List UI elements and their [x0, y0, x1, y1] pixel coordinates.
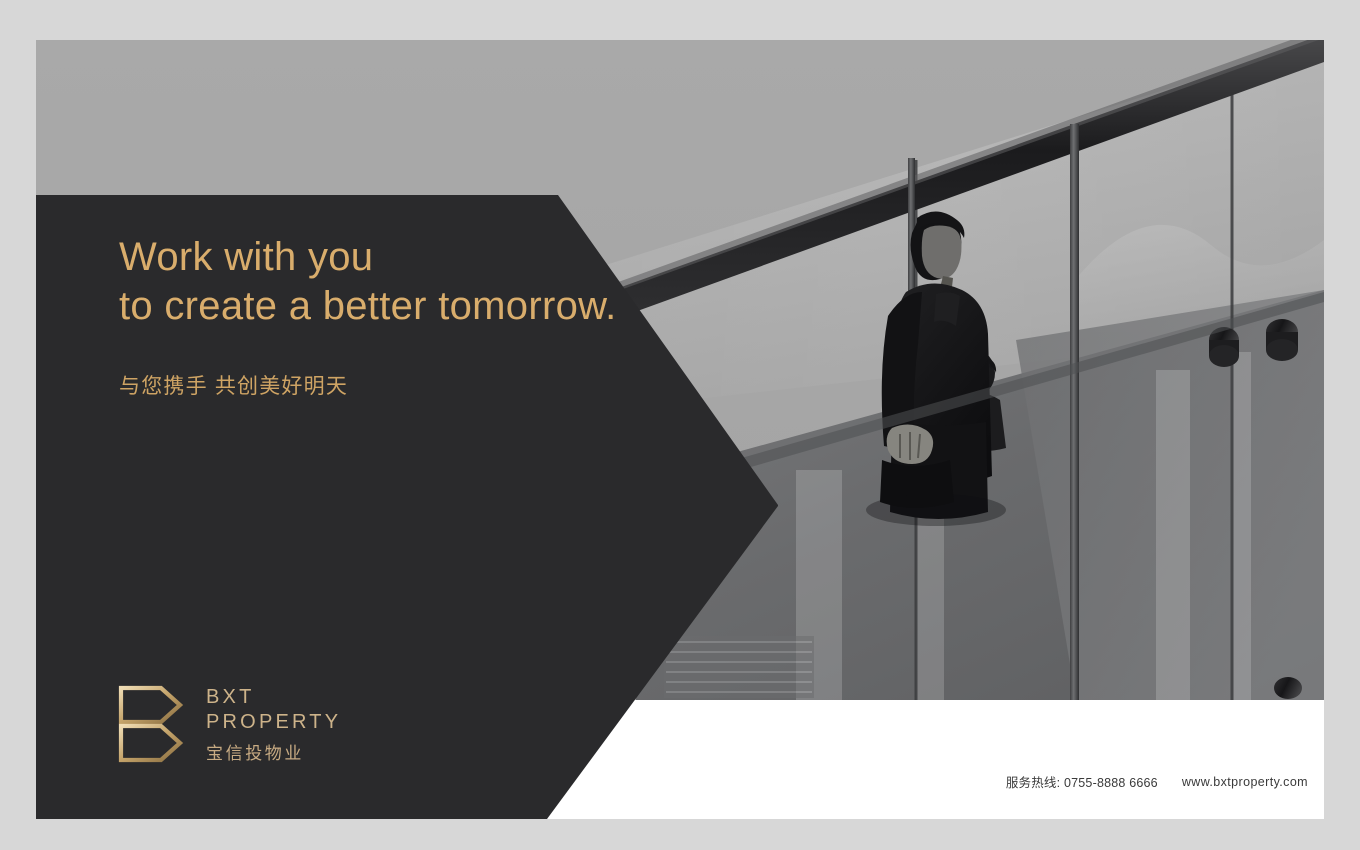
- brand-name-chinese: 宝信投物业: [206, 739, 341, 764]
- slide-canvas: Work with you to create a better tomorro…: [36, 40, 1324, 819]
- brand-name-line-2: PROPERTY: [206, 710, 341, 735]
- hero-copy-block: Work with you to create a better tomorro…: [119, 233, 679, 400]
- website-url[interactable]: www.bxtproperty.com: [1182, 775, 1308, 789]
- brand-wordmark: BXT PROPERTY 宝信投物业: [206, 683, 341, 764]
- subheadline: 与您携手 共创美好明天: [119, 370, 679, 400]
- brand-logo-lockup: BXT PROPERTY 宝信投物业: [117, 683, 341, 764]
- headline-line-1: Work with you: [119, 233, 679, 282]
- headline-line-2: to create a better tomorrow.: [119, 282, 679, 331]
- footer-contact-bar: 服务热线: 0755-8888 6666 www.bxtproperty.com: [1006, 772, 1308, 791]
- bxt-b-monogram-icon: [117, 684, 184, 764]
- slide-stage: Work with you to create a better tomorro…: [0, 0, 1360, 850]
- brand-name-line-1: BXT: [206, 685, 341, 710]
- service-hotline: 服务热线: 0755-8888 6666: [1006, 772, 1158, 791]
